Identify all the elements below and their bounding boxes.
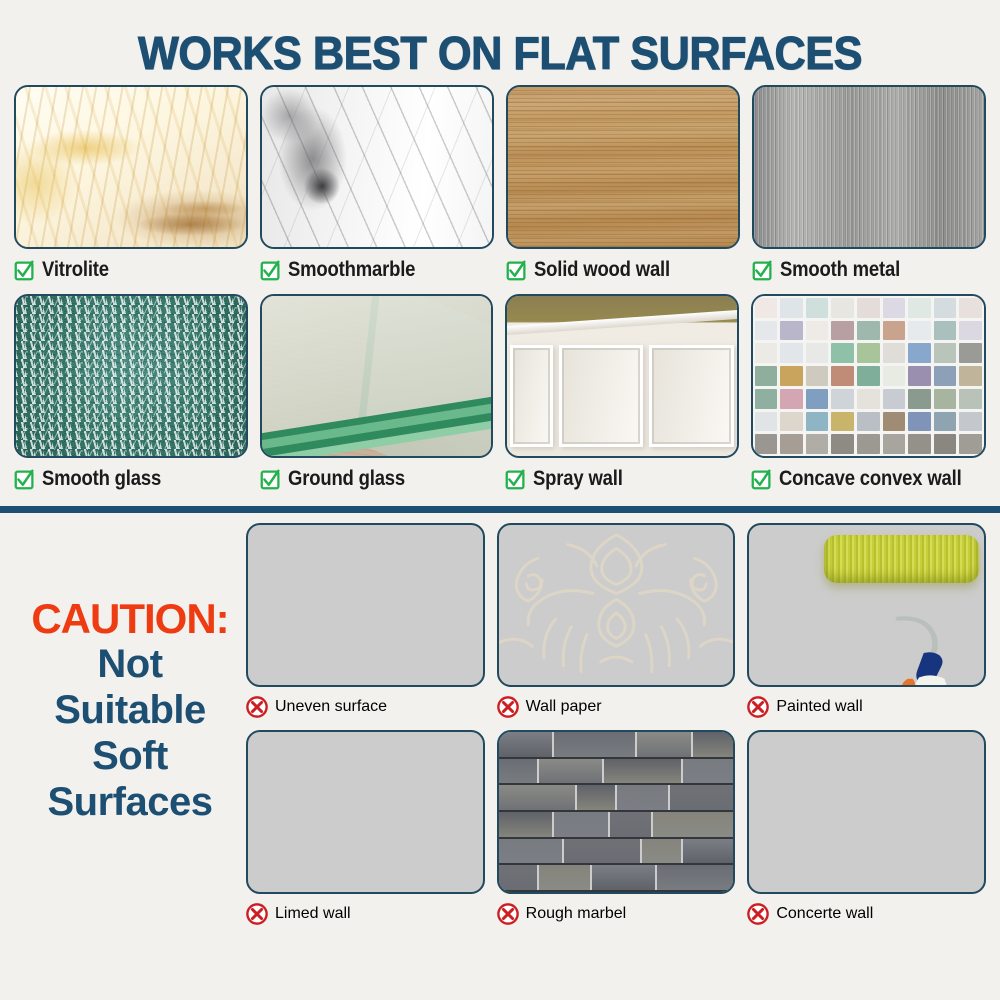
- stone-course: [499, 785, 734, 812]
- mosaic-tile: [857, 434, 880, 454]
- surface-image-rough-marbel: [497, 730, 736, 894]
- stone-block: [499, 759, 537, 784]
- surface-caption: Smooth metal: [752, 255, 986, 285]
- mosaic-tile: [934, 434, 957, 454]
- checkbox-checked-icon: [260, 260, 281, 281]
- mosaic-tile: [857, 389, 880, 409]
- surface-caption: Wall paper: [497, 692, 736, 722]
- mosaic-tile: [908, 298, 931, 318]
- surface-image-spray-wall: [505, 294, 739, 458]
- surface-card-smooth-glass[interactable]: Smooth glass: [14, 294, 248, 494]
- mosaic-tile: [780, 412, 803, 432]
- damask-pattern-icon: [499, 525, 734, 681]
- surface-image-solid-wood-wall: [506, 85, 740, 249]
- surface-image-limed-wall: [246, 730, 485, 894]
- surface-label: Solid wood wall: [534, 258, 670, 282]
- mosaic-grid: [753, 296, 984, 456]
- surface-label: Concerte wall: [776, 905, 873, 923]
- surface-card-vitrolite[interactable]: Vitrolite: [14, 85, 248, 285]
- surface-caption: Limed wall: [246, 899, 485, 929]
- mosaic-tile: [959, 434, 982, 454]
- surface-card-smoothmarble[interactable]: Smoothmarble: [260, 85, 494, 285]
- surface-card-solid-wood-wall[interactable]: Solid wood wall: [506, 85, 740, 285]
- surface-label: Rough marbel: [526, 905, 627, 923]
- circle-x-icon: [497, 903, 519, 925]
- circle-x-icon: [497, 696, 519, 718]
- stone-block: [604, 759, 680, 784]
- texture-tan-wood-grain: [508, 87, 738, 247]
- surface-card-painted-wall[interactable]: Painted wall: [747, 523, 986, 722]
- mosaic-tile: [883, 389, 906, 409]
- mosaic-tile: [780, 298, 803, 318]
- not-suitable-section: CAUTION: Not Suitable Soft Surfaces Unev…: [0, 523, 1000, 929]
- surface-label: Smooth metal: [780, 258, 900, 282]
- surface-card-uneven-surface[interactable]: Uneven surface: [246, 523, 485, 722]
- surface-caption: Ground glass: [260, 464, 494, 494]
- surface-caption: Spray wall: [505, 464, 739, 494]
- surface-image-vitrolite: [14, 85, 248, 249]
- mosaic-tile: [959, 343, 982, 363]
- checkbox-checked-icon: [14, 260, 35, 281]
- mosaic-tile: [780, 434, 803, 454]
- mosaic-tile: [755, 343, 778, 363]
- circle-x-icon: [747, 696, 769, 718]
- surface-label: Vitrolite: [42, 258, 109, 282]
- mosaic-tile: [831, 389, 854, 409]
- texture-white-wainscot-panels: [507, 296, 737, 456]
- surface-image-concerte-wall: [747, 730, 986, 894]
- stone-block: [554, 732, 635, 757]
- wainscot-panels: [507, 331, 737, 456]
- mosaic-tile: [934, 321, 957, 341]
- wainscot-panel: [510, 345, 553, 447]
- mosaic-tile: [883, 366, 906, 386]
- stone-course: [499, 759, 734, 786]
- surface-label: Uneven surface: [275, 698, 387, 716]
- circle-x-icon: [747, 903, 769, 925]
- mosaic-tile: [908, 412, 931, 432]
- surface-caption: Vitrolite: [14, 255, 248, 285]
- stone-block: [564, 839, 640, 864]
- circle-x-icon: [246, 903, 268, 925]
- bad-row-2: Limed wall Rough marbel: [246, 730, 986, 929]
- surface-card-rough-marbel[interactable]: Rough marbel: [497, 730, 736, 929]
- mosaic-tile: [883, 434, 906, 454]
- surface-caption: Smooth glass: [14, 464, 248, 494]
- stone-course: [499, 839, 734, 866]
- surface-label: Smooth glass: [42, 467, 161, 491]
- mosaic-tile: [857, 298, 880, 318]
- surface-card-spray-wall[interactable]: Spray wall: [505, 294, 739, 494]
- mosaic-tile: [959, 389, 982, 409]
- checkbox-checked-icon: [752, 260, 773, 281]
- stone-block: [617, 785, 668, 810]
- surface-caption: Smoothmarble: [260, 255, 494, 285]
- bad-row-1: Uneven surface: [246, 523, 986, 722]
- mosaic-tile: [934, 389, 957, 409]
- stone-courses: [499, 732, 734, 892]
- bad-surfaces-grid: Uneven surface: [246, 523, 986, 929]
- mosaic-tile: [857, 321, 880, 341]
- texture-teal-speckled-glass: [16, 296, 246, 456]
- mosaic-tile: [883, 298, 906, 318]
- surface-caption: Solid wood wall: [506, 255, 740, 285]
- mosaic-tile: [831, 343, 854, 363]
- mosaic-tile: [959, 321, 982, 341]
- stone-block: [539, 759, 603, 784]
- mosaic-tile: [806, 366, 829, 386]
- good-row-2: Smooth glass Ground glass: [14, 294, 986, 494]
- surface-image-painted-wall: [747, 523, 986, 687]
- mosaic-tile: [908, 366, 931, 386]
- mosaic-tile: [959, 412, 982, 432]
- mosaic-tile: [755, 434, 778, 454]
- mosaic-tile: [806, 343, 829, 363]
- good-row-1: Vitrolite Smoothmarble Solid w: [14, 85, 986, 285]
- surface-label: Painted wall: [776, 698, 862, 716]
- stone-block: [670, 785, 734, 810]
- surface-card-smooth-metal[interactable]: Smooth metal: [752, 85, 986, 285]
- mosaic-tile: [857, 366, 880, 386]
- surface-card-limed-wall[interactable]: Limed wall: [246, 730, 485, 929]
- surface-caption: Uneven surface: [246, 692, 485, 722]
- stone-block: [499, 732, 553, 757]
- surface-label: Concave convex wall: [779, 467, 962, 491]
- checkbox-checked-icon: [751, 469, 772, 490]
- mosaic-tile: [934, 298, 957, 318]
- surface-image-smooth-metal: [752, 85, 986, 249]
- stone-course: [499, 732, 734, 759]
- surface-image-smoothmarble: [260, 85, 494, 249]
- mosaic-tile: [806, 389, 829, 409]
- mosaic-tile: [780, 366, 803, 386]
- surface-label: Spray wall: [533, 467, 623, 491]
- caution-line-1: Not: [97, 641, 162, 687]
- stone-block: [499, 839, 563, 864]
- surface-label: Wall paper: [526, 698, 602, 716]
- surface-card-concerte-wall[interactable]: Concerte wall: [747, 730, 986, 929]
- stone-block: [592, 865, 656, 890]
- mosaic-tile: [959, 366, 982, 386]
- mosaic-tile: [883, 343, 906, 363]
- surface-image-ground-glass: [260, 294, 494, 458]
- stone-course: [499, 812, 734, 839]
- mosaic-tile: [831, 434, 854, 454]
- surface-caption: Rough marbel: [497, 899, 736, 929]
- texture-white-grey-veined-marble: [262, 87, 492, 247]
- mosaic-tile: [908, 434, 931, 454]
- stone-block: [657, 865, 733, 890]
- mosaic-tile: [755, 366, 778, 386]
- section-divider: [0, 506, 1000, 513]
- surface-label: Ground glass: [288, 467, 405, 491]
- surface-image-uneven-surface: [246, 523, 485, 687]
- stone-block: [554, 812, 608, 837]
- mosaic-tile: [806, 298, 829, 318]
- texture-pastel-mosaic-tiles: [753, 296, 984, 456]
- mosaic-tile: [806, 321, 829, 341]
- surface-label: Limed wall: [275, 905, 351, 923]
- mosaic-tile: [908, 321, 931, 341]
- circle-x-icon: [246, 696, 268, 718]
- surface-label: Smoothmarble: [288, 258, 415, 282]
- surface-card-ground-glass[interactable]: Ground glass: [260, 294, 494, 494]
- checkbox-checked-icon: [506, 260, 527, 281]
- caution-heading: CAUTION:: [31, 597, 228, 641]
- stone-block: [693, 732, 733, 757]
- stone-block: [683, 839, 734, 864]
- stone-block: [499, 865, 537, 890]
- stone-block: [653, 812, 734, 837]
- checkbox-checked-icon: [505, 469, 526, 490]
- stone-block: [642, 839, 680, 864]
- mosaic-tile: [883, 412, 906, 432]
- stone-course: [499, 865, 734, 892]
- texture-cream-onyx-marble: [16, 87, 246, 247]
- caution-line-3: Soft: [92, 733, 168, 779]
- mosaic-tile: [780, 321, 803, 341]
- mosaic-tile: [806, 434, 829, 454]
- texture-laminated-glass-edge: [262, 296, 492, 456]
- page-title: WORKS BEST ON FLAT SURFACES: [30, 0, 970, 76]
- mosaic-tile: [934, 343, 957, 363]
- flat-surfaces-section: Vitrolite Smoothmarble Solid w: [0, 85, 1000, 494]
- mosaic-tile: [908, 389, 931, 409]
- caution-line-4: Surfaces: [48, 779, 213, 825]
- mosaic-tile: [934, 366, 957, 386]
- surface-caption: Painted wall: [747, 692, 986, 722]
- surface-image-wall-paper: [497, 523, 736, 687]
- wainscot-panel: [559, 345, 643, 447]
- paint-roller-icon: [824, 535, 979, 583]
- mosaic-tile: [780, 389, 803, 409]
- stone-block: [610, 812, 650, 837]
- stone-block: [499, 812, 553, 837]
- mosaic-tile: [857, 343, 880, 363]
- mosaic-tile: [755, 412, 778, 432]
- surface-card-wall-paper[interactable]: Wall paper: [497, 523, 736, 722]
- caution-block: CAUTION: Not Suitable Soft Surfaces: [14, 523, 246, 929]
- mosaic-tile: [755, 389, 778, 409]
- mosaic-tile: [831, 298, 854, 318]
- mosaic-tile: [780, 343, 803, 363]
- surface-image-concave-convex-wall: [751, 294, 986, 458]
- mosaic-tile: [883, 321, 906, 341]
- surface-image-smooth-glass: [14, 294, 248, 458]
- stone-block: [637, 732, 691, 757]
- mosaic-tile: [831, 321, 854, 341]
- checkbox-checked-icon: [260, 469, 281, 490]
- mosaic-tile: [857, 412, 880, 432]
- texture-brushed-grey-metal: [754, 87, 984, 247]
- stone-block: [577, 785, 615, 810]
- surface-card-concave-convex-wall[interactable]: Concave convex wall: [751, 294, 986, 494]
- roller-handle-icon: [895, 615, 975, 687]
- stone-block: [539, 865, 590, 890]
- mosaic-tile: [755, 298, 778, 318]
- mosaic-tile: [806, 412, 829, 432]
- mosaic-tile: [831, 412, 854, 432]
- caution-line-2: Suitable: [54, 687, 206, 733]
- surface-caption: Concave convex wall: [751, 464, 986, 494]
- mosaic-tile: [959, 298, 982, 318]
- mosaic-tile: [908, 343, 931, 363]
- surface-caption: Concerte wall: [747, 899, 986, 929]
- wainscot-panel: [649, 345, 733, 447]
- mosaic-tile: [755, 321, 778, 341]
- stone-block: [499, 785, 575, 810]
- checkbox-checked-icon: [14, 469, 35, 490]
- mosaic-tile: [831, 366, 854, 386]
- stone-block: [683, 759, 734, 784]
- mosaic-tile: [934, 412, 957, 432]
